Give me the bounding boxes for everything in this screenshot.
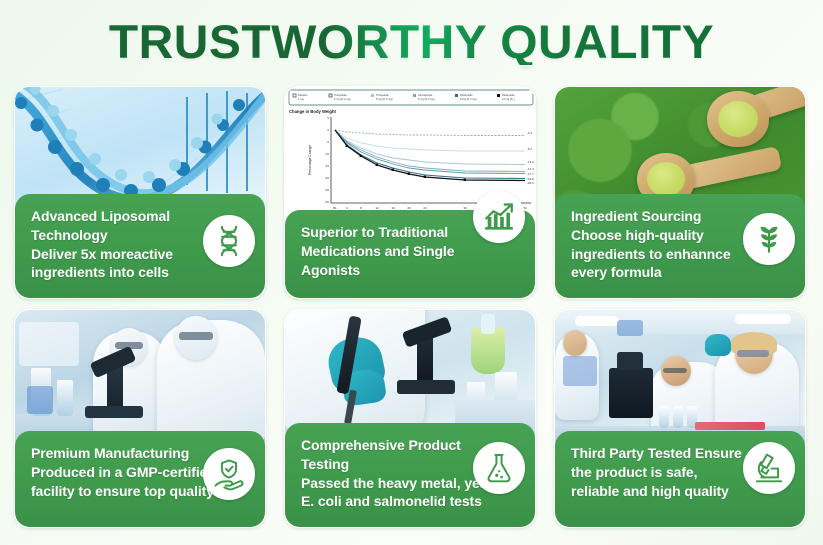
caption-line: Medications and Single (301, 242, 519, 261)
flask-icon (473, 442, 525, 494)
svg-text:8 mg (D 2 mg): 8 mg (D 2 mg) (418, 97, 435, 101)
feature-card-third-party-tested[interactable]: Third Party Tested Ensure the product is… (554, 309, 806, 528)
feature-card-premium-manufacturing[interactable]: Premium Manufacturing Produced in a GMP-… (14, 309, 266, 528)
dna-icon (203, 215, 255, 267)
svg-text:-20: -20 (325, 176, 330, 180)
svg-text:-30: -30 (325, 200, 330, 204)
feature-card-comprehensive-product-testing[interactable]: Comprehensive Product Testing Passed the… (284, 309, 536, 528)
svg-text:Change in Body Weight: Change in Body Weight (289, 109, 337, 114)
svg-text:-15: -15 (325, 164, 330, 168)
svg-text:-17.7: -17.7 (527, 172, 534, 176)
caption-line: ingredients into cells (31, 263, 249, 282)
microscope-icon (743, 442, 795, 494)
feature-card-advanced-liposomal-technology[interactable]: Advanced Liposomal Technology Deliver 5x… (14, 86, 266, 299)
svg-text:Retatrutide: Retatrutide (460, 93, 473, 97)
svg-text:-14.2: -14.2 (527, 160, 534, 164)
svg-text:8 mg (D 4 mg): 8 mg (D 4 mg) (376, 97, 393, 101)
svg-text:Tirzepatide: Tirzepatide (334, 93, 347, 97)
svg-text:-8.7: -8.7 (527, 147, 533, 151)
feature-card-superior-to-traditional-medications[interactable]: Placebo1 mg Tirzepatide5 mg (D 2 mg) Tir… (284, 86, 536, 299)
page-title: TRUSTWORTHY QUALITY (0, 0, 823, 65)
svg-text:5 mg (D 2 mg): 5 mg (D 2 mg) (334, 97, 351, 101)
svg-text:-10: -10 (325, 152, 330, 156)
svg-text:12 mg (D..): 12 mg (D..) (502, 97, 515, 101)
svg-text:-2.1: -2.1 (527, 131, 533, 135)
svg-text:-20.5: -20.5 (527, 181, 534, 185)
svg-text:-17.4: -17.4 (527, 167, 534, 171)
svg-text:Percentage Change: Percentage Change (308, 145, 312, 175)
feature-card-ingredient-sourcing[interactable]: Ingredient Sourcing Choose high-quality … (554, 86, 806, 299)
svg-text:-5: -5 (326, 140, 329, 144)
svg-text:1 mg: 1 mg (298, 97, 304, 101)
caption-line: Agonists (301, 261, 519, 280)
leaf-branch-icon (743, 213, 795, 265)
svg-text:Placebo: Placebo (298, 93, 308, 97)
growth-chart-icon (473, 191, 525, 243)
hand-shield-check-icon (203, 448, 255, 500)
caption-line: E. coli and salmonelid tests (301, 492, 519, 511)
svg-text:Tirzepatide: Tirzepatide (376, 93, 389, 97)
svg-text:Semaglutide: Semaglutide (418, 93, 433, 97)
caption-line: every formula (571, 263, 789, 282)
feature-card-grid: Advanced Liposomal Technology Deliver 5x… (14, 86, 809, 528)
svg-text:-25: -25 (325, 188, 330, 192)
svg-text:8 mg (D 4 mg): 8 mg (D 4 mg) (460, 97, 477, 101)
svg-text:Retatrutide: Retatrutide (502, 93, 515, 97)
